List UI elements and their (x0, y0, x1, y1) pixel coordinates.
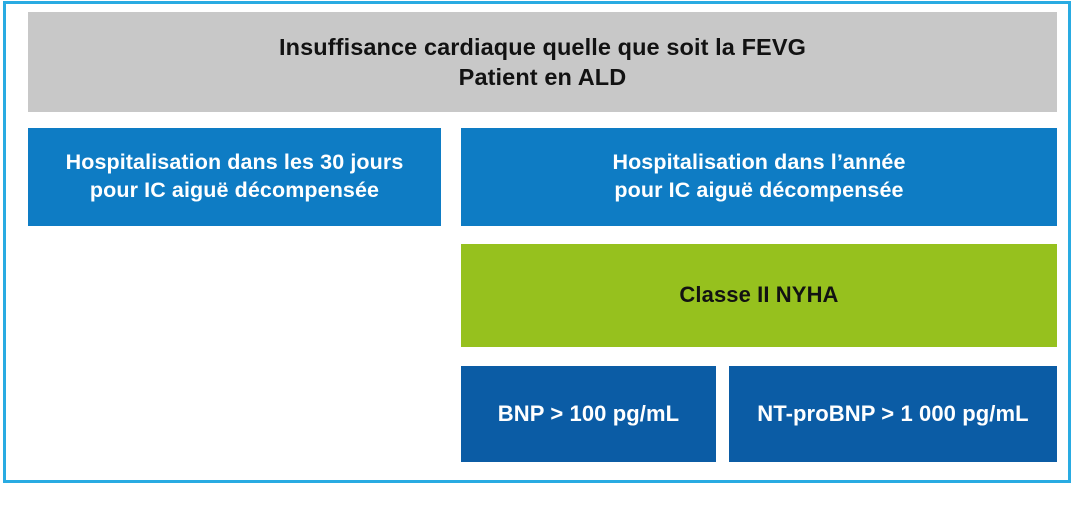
criterion-hospitalisation-annee-label: Hospitalisation dans l’année pour IC aig… (461, 149, 1057, 204)
criterion-hospitalisation-30-jours-label: Hospitalisation dans les 30 jours pour I… (28, 149, 441, 204)
diagnosis-header-label: Insuffisance cardiaque quelle que soit l… (28, 32, 1057, 92)
criterion-hospitalisation-30-jours: Hospitalisation dans les 30 jours pour I… (28, 128, 441, 226)
figure-frame: Insuffisance cardiaque quelle que soit l… (3, 1, 1071, 483)
criterion-classe-nyha: Classe II NYHA (461, 244, 1057, 347)
diagnosis-header-box: Insuffisance cardiaque quelle que soit l… (28, 12, 1057, 112)
criterion-hospitalisation-annee: Hospitalisation dans l’année pour IC aig… (461, 128, 1057, 226)
criterion-bnp-threshold-label: BNP > 100 pg/mL (461, 400, 716, 428)
eligibility-criteria-diagram: Insuffisance cardiaque quelle que soit l… (0, 0, 1078, 516)
criterion-nt-probnp-threshold: NT-proBNP > 1 000 pg/mL (729, 366, 1057, 462)
criterion-nt-probnp-threshold-label: NT-proBNP > 1 000 pg/mL (729, 400, 1057, 428)
criterion-bnp-threshold: BNP > 100 pg/mL (461, 366, 716, 462)
criterion-classe-nyha-label: Classe II NYHA (461, 281, 1057, 309)
